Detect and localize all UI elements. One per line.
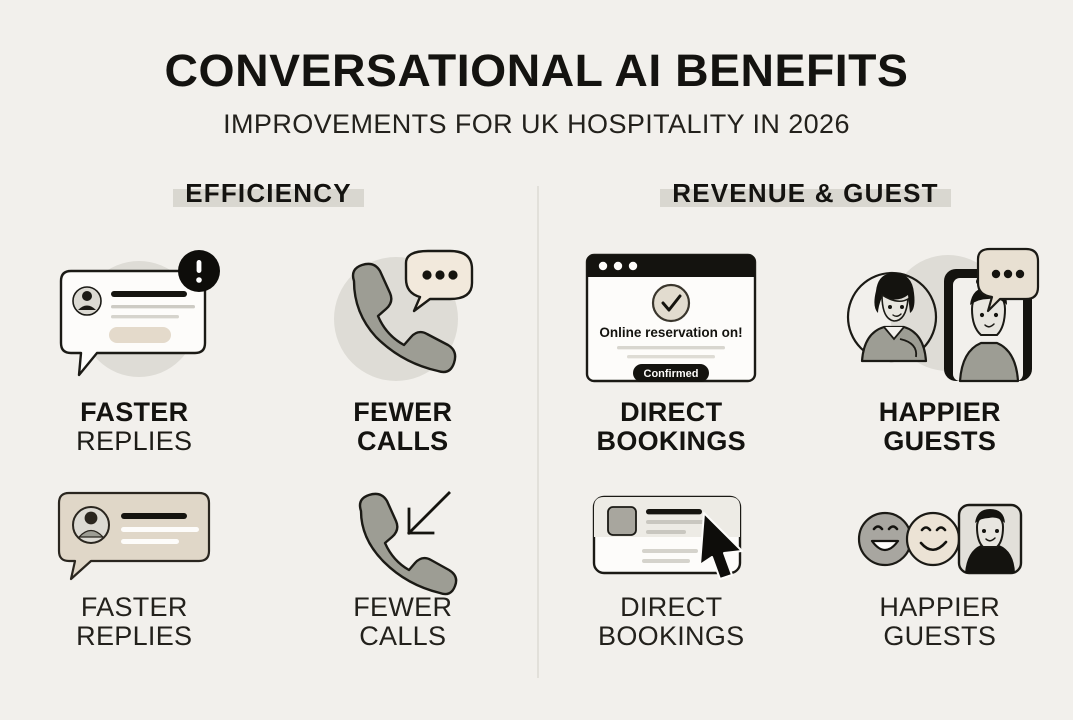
placeholder-line-2 <box>627 355 715 358</box>
benefit-faster-replies-alt[interactable]: FASTER REPLIES <box>0 483 269 650</box>
booking-line-1 <box>646 520 708 524</box>
confirmed-button[interactable]: Confirmed <box>633 364 709 382</box>
section-heading-label: REVENUE & GUEST <box>672 178 939 208</box>
section-heading-label: EFFICIENCY <box>185 178 352 208</box>
browser-title-bar <box>587 255 755 277</box>
caption-line-2: REPLIES <box>0 427 269 456</box>
chat-bubble-alert-icon <box>0 242 269 392</box>
benefit-faster-replies[interactable]: FASTER REPLIES <box>0 242 269 455</box>
reservation-message: Online reservation on! <box>600 325 743 340</box>
caption-line-1: FEWER <box>269 398 538 427</box>
caption-line-1: FASTER <box>0 398 269 427</box>
smiley-faces-guest-icon <box>806 483 1073 587</box>
efficiency-row-secondary: FASTER REPLIES FEWER CALLS <box>0 483 537 650</box>
booking-line-3 <box>642 549 698 553</box>
caption-line-2: BOOKINGS <box>537 427 806 456</box>
benefit-fewer-calls-alt[interactable]: FEWER CALLS <box>269 483 538 650</box>
caption-line-2: GUESTS <box>806 427 1073 456</box>
benefit-happier-guests-alt[interactable]: HAPPIER GUESTS <box>806 483 1073 650</box>
user-avatar-icon <box>73 287 101 315</box>
caption-line-1: DIRECT <box>537 398 806 427</box>
benefit-caption: FASTER REPLIES <box>0 593 269 650</box>
browser-reservation-icon: Online reservation on! Confirmed <box>537 242 806 392</box>
caption-line-2: CALLS <box>269 622 538 651</box>
booking-line-heading <box>646 509 702 514</box>
phone-incoming-arrow-icon <box>269 483 538 587</box>
window-dot-2 <box>614 262 622 270</box>
booking-line-4 <box>642 559 690 563</box>
window-dot-3 <box>629 262 637 270</box>
user-avatar-icon <box>73 507 109 543</box>
benefits-board: EFFICIENCY <box>0 178 1073 720</box>
efficiency-row-primary: FASTER REPLIES <box>0 242 537 455</box>
arrow-down-left-icon <box>409 493 449 533</box>
benefit-direct-bookings-alt[interactable]: DIRECT BOOKINGS <box>537 483 806 650</box>
caption-line-2: BOOKINGS <box>537 622 806 651</box>
booking-card-cursor-icon <box>537 483 806 587</box>
revenue-row-secondary: DIRECT BOOKINGS <box>537 483 1073 650</box>
booking-line-2 <box>646 530 686 534</box>
section-heading-efficiency: EFFICIENCY <box>0 178 537 230</box>
window-dot-1 <box>599 262 607 270</box>
caption-line-1: FASTER <box>0 593 269 622</box>
benefit-caption: FEWER CALLS <box>269 593 538 650</box>
benefit-caption: FEWER CALLS <box>269 398 538 455</box>
section-efficiency: EFFICIENCY <box>0 178 537 650</box>
page-subtitle: IMPROVEMENTS FOR UK HOSPITALITY IN 2026 <box>0 111 1073 138</box>
caption-line-1: DIRECT <box>537 593 806 622</box>
alert-exclamation-badge-icon <box>178 250 220 292</box>
benefit-direct-bookings[interactable]: Online reservation on! Confirmed DIRECT … <box>537 242 806 455</box>
message-line-heading <box>111 291 187 297</box>
video-call-guests-icon <box>806 242 1073 392</box>
typing-dots-icon <box>992 270 1024 278</box>
caption-line-2: CALLS <box>269 427 538 456</box>
benefit-caption: HAPPIER GUESTS <box>806 398 1073 455</box>
placeholder-line-1 <box>617 346 725 349</box>
caption-line-2: REPLIES <box>0 622 269 651</box>
infographic-header: CONVERSATIONAL AI BENEFITS IMPROVEMENTS … <box>0 0 1073 138</box>
smiley-face-cream-icon <box>907 513 959 565</box>
message-line-2 <box>111 315 179 318</box>
benefit-caption: FASTER REPLIES <box>0 398 269 455</box>
section-heading-revenue-guest: REVENUE & GUEST <box>537 178 1073 230</box>
message-line-2 <box>121 539 179 544</box>
section-revenue-guest: REVENUE & GUEST Online <box>537 178 1073 650</box>
check-circle-icon <box>653 285 689 321</box>
revenue-row-primary: Online reservation on! Confirmed DIRECT … <box>537 242 1073 455</box>
benefit-caption: DIRECT BOOKINGS <box>537 593 806 650</box>
page-title: CONVERSATIONAL AI BENEFITS <box>0 48 1073 93</box>
benefit-caption: DIRECT BOOKINGS <box>537 398 806 455</box>
guest-photo-icon <box>959 505 1021 573</box>
typing-dots-icon <box>422 270 457 279</box>
message-line-1 <box>121 527 199 532</box>
caption-line-1: HAPPIER <box>806 398 1073 427</box>
benefit-caption: HAPPIER GUESTS <box>806 593 1073 650</box>
smiley-face-gray-icon <box>859 513 911 565</box>
chat-bubble-message-icon <box>0 483 269 587</box>
message-line-heading <box>121 513 187 519</box>
message-pill <box>109 327 171 343</box>
benefit-fewer-calls[interactable]: FEWER CALLS <box>269 242 538 455</box>
benefit-happier-guests[interactable]: HAPPIER GUESTS <box>806 242 1073 455</box>
caption-line-1: FEWER <box>269 593 538 622</box>
booking-thumbnail <box>608 507 636 535</box>
phone-chat-bubble-icon <box>269 242 538 392</box>
confirmed-button-label: Confirmed <box>644 368 699 380</box>
caption-line-2: GUESTS <box>806 622 1073 651</box>
message-line-1 <box>111 305 195 308</box>
caption-line-1: HAPPIER <box>806 593 1073 622</box>
